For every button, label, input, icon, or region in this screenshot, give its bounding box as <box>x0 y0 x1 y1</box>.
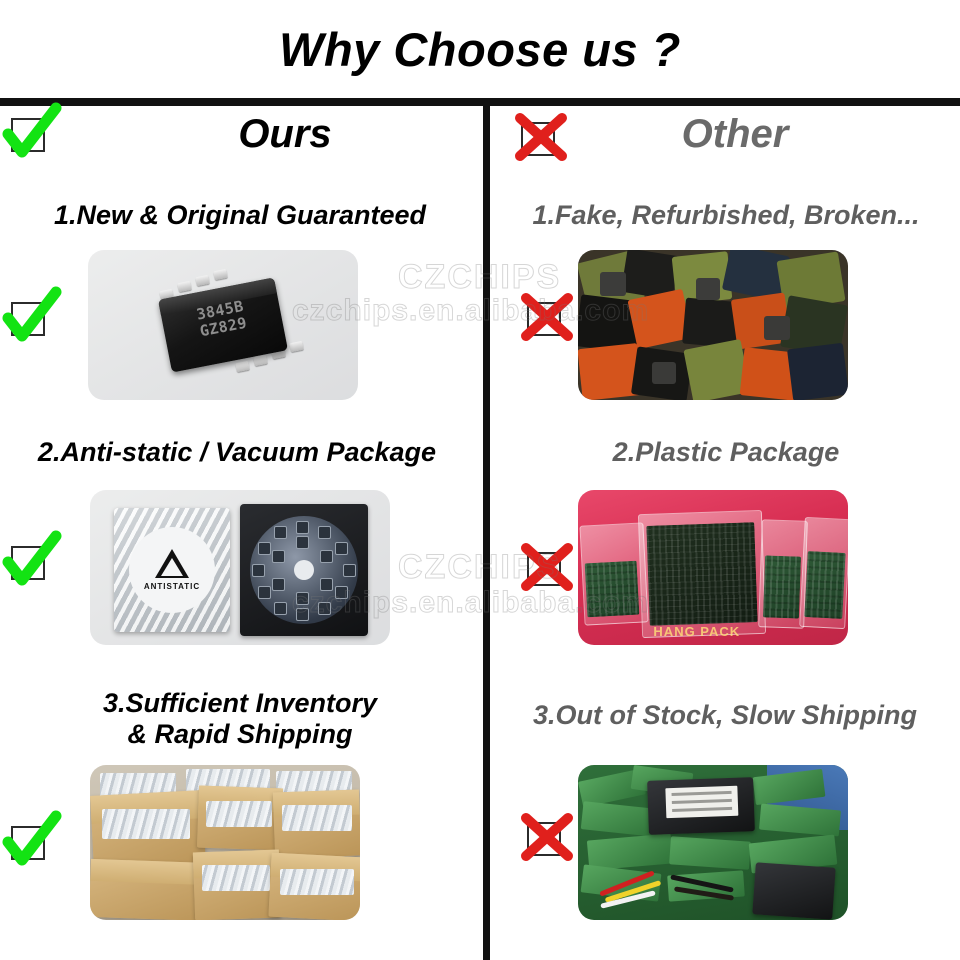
antistatic-label-text: ANTISTATIC <box>144 582 200 591</box>
column-divider <box>483 104 490 960</box>
watermark-brand-1: CZCHIPS <box>398 258 561 297</box>
watermark-brand-2: CZCHIPS <box>398 548 561 587</box>
check-mark-icon-row-3 <box>6 820 52 866</box>
check-glyph <box>2 532 60 590</box>
watermark-url-1: czchips.en.alibaba.com <box>292 294 649 328</box>
antistatic-label: ⚡ ANTISTATIC <box>129 527 215 613</box>
black-case <box>752 862 835 919</box>
esd-warning-icon: ⚡ <box>155 549 189 578</box>
row-3-left-text-line-2: & Rapid Shipping <box>10 719 470 750</box>
black-module <box>647 777 755 835</box>
antistatic-bag-and-reel-illustration: ⚡ ANTISTATIC <box>90 490 390 645</box>
page-title: Why Choose us ? <box>0 22 960 77</box>
check-mark-icon-row-1 <box>6 296 52 342</box>
row-2-left-photo: ⚡ ANTISTATIC <box>90 490 390 645</box>
header-divider <box>0 98 960 106</box>
pack-watermark-text: HANG PACK <box>653 624 740 639</box>
watermark-url-2: czchips.en.alibaba.com <box>292 586 649 620</box>
row-3-left-text: 3.Sufficient Inventory & Rapid Shipping <box>10 688 470 750</box>
column-header-other: Other <box>600 112 870 157</box>
row-1-right-text: 1.Fake, Refurbished, Broken... <box>496 200 956 231</box>
antistatic-bag: ⚡ ANTISTATIC <box>114 508 230 632</box>
row-1-left-text: 1.New & Original Guaranteed <box>10 200 470 231</box>
row-3-right-text: 3.Out of Stock, Slow Shipping <box>492 700 958 731</box>
scrap-pcb-pile-illustration <box>578 765 848 920</box>
row-3-left-text-line-1: 3.Sufficient Inventory <box>10 688 470 719</box>
row-3-left-photo <box>90 765 360 920</box>
column-header-ours: Ours <box>150 112 420 157</box>
module-label <box>665 786 738 818</box>
cross-mark-icon-row-3 <box>522 816 568 862</box>
check-mark-icon-row-2 <box>6 540 52 586</box>
cross-glyph <box>512 108 570 166</box>
check-glyph <box>2 812 60 870</box>
check-mark-icon-header <box>6 112 52 158</box>
why-choose-us-infographic: Why Choose us ? Ours Other 1.New & Origi… <box>0 0 960 960</box>
check-glyph <box>2 104 60 162</box>
stock-cartons-illustration <box>90 765 360 920</box>
row-2-left-text: 2.Anti-static / Vacuum Package <box>4 437 470 468</box>
check-glyph <box>2 288 60 346</box>
row-3-right-photo <box>578 765 848 920</box>
cross-mark-icon-header <box>516 116 562 162</box>
chip-body: 3845B GZ829 <box>158 277 288 372</box>
cross-glyph <box>518 808 576 866</box>
row-2-right-photo: HANG PACK <box>578 490 848 645</box>
row-2-right-text: 2.Plastic Package <box>496 437 956 468</box>
plastic-bagged-pcbs-illustration: HANG PACK <box>578 490 848 645</box>
